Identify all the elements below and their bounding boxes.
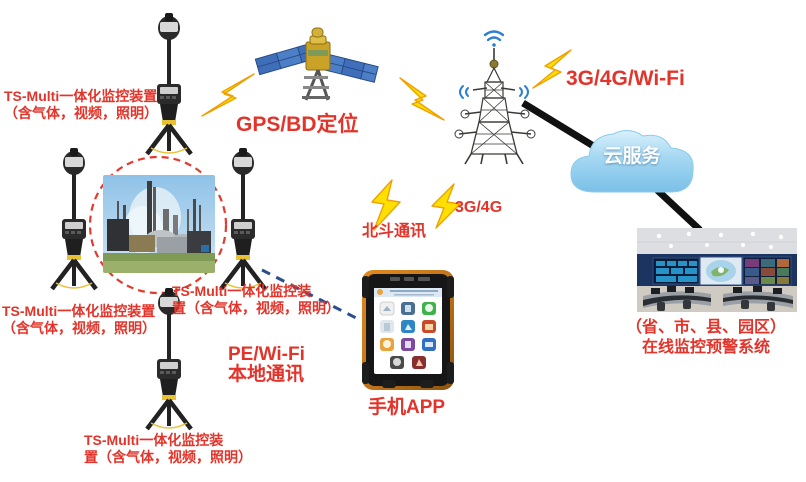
tripod-monitoring-device-left[interactable] [36, 143, 112, 291]
tripod-monitoring-device-right[interactable] [205, 143, 281, 291]
label-gps-bd: GPS/BD定位 [236, 112, 359, 138]
label-device-bottom-left: TS-Multi一体化监控装置 （含气体，视频，照明） [2, 303, 156, 337]
label-device-center-right: TS-Multi一体化监控装 置（含气体，视频，照明） [172, 283, 340, 317]
bolt-satellite-to-tower [392, 76, 454, 124]
label-cellular-3g4g-wifi: 3G/4G/Wi-Fi [566, 66, 685, 92]
rugged-tablet-device[interactable] [360, 268, 456, 392]
satellite-icon [248, 8, 380, 108]
label-cellular-3g4g: 3G/4G [455, 198, 502, 218]
label-device-top-left: TS-Multi一体化监控装置 （含气体，视频，照明） [4, 88, 158, 122]
control-room-photo [637, 228, 797, 312]
label-monitor-center-line2: 在线监控预警系统 [608, 338, 804, 358]
petrochemical-plant-photo [103, 175, 215, 273]
label-beidou-comm: 北斗通讯 [362, 222, 426, 242]
label-mobile-app: 手机APP [368, 396, 445, 419]
cloud-service-label: 云服务 [580, 145, 684, 168]
communication-tower-icon [443, 18, 547, 170]
diagram-canvas: 云服务 [0, 0, 806, 482]
label-device-bottom-center: TS-Multi一体化监控装 置（含气体，视频，照明） [84, 432, 252, 466]
label-monitor-center-line1: （省、市、县、园区） [608, 318, 804, 338]
label-local-comm-line2: 本地通讯 [228, 363, 304, 386]
